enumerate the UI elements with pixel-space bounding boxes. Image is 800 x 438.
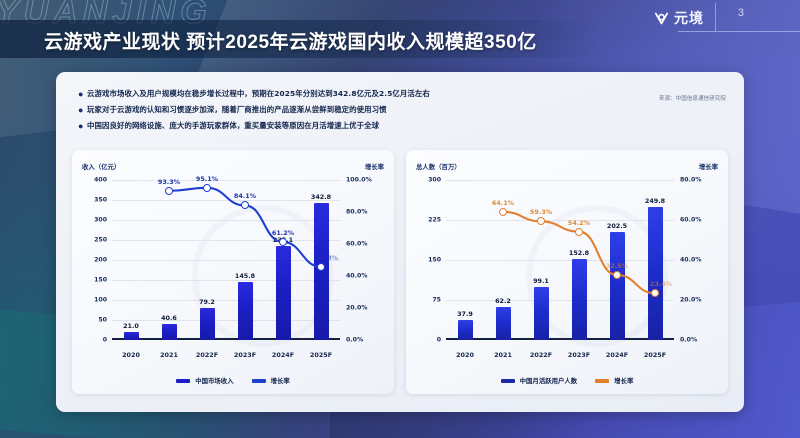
revenue-chart-panel: 收入（亿元） 增长率 0501001502002503003504000.0%2… [72,150,394,394]
y2-axis-tick: 60.0% [346,241,367,248]
chart-y-axis-label: 收入（亿元） [82,162,120,171]
y-axis-tick: 150 [94,277,107,284]
line-value-label: 64.1% [492,199,514,207]
y-axis-tick: 75 [432,297,441,304]
y-axis-tick: 0 [103,337,107,344]
line-marker [537,217,545,225]
y2-axis-tick: 20.0% [346,305,367,312]
y-axis-tick: 300 [428,177,441,184]
y2-axis-tick: 20.0% [680,297,701,304]
line-marker [575,228,583,236]
chart-y-axis-label: 总人数（百万） [416,162,461,171]
chart-y2-axis-label: 增长率 [365,162,384,171]
brand-logo: 元境 [653,8,704,28]
line-value-label: 23.4% [650,280,672,288]
y-axis-tick: 225 [428,217,441,224]
list-item: ● 中国因良好的网络设施、庞大的手游玩家群体，重买量安装等原因在月活增速上优于全… [78,120,598,133]
legend-item: 中国月活跃用户人数 [501,376,578,385]
x-axis-tick: 2024F [272,351,294,359]
x-axis-tick: 2022F [196,351,218,359]
legend-item: 中国市场收入 [176,376,233,385]
line-marker [279,238,287,246]
x-axis-tick: 2023F [234,351,256,359]
line-value-label: 93.3% [158,178,180,186]
bullet-text: 中国因良好的网络设施、庞大的手游玩家群体，重买量安装等原因在月活增速上优于全球 [87,120,379,132]
x-axis-tick: 2021 [160,351,178,359]
page-number: 3 [738,7,744,19]
legend-label: 中国月活跃用户人数 [520,376,578,385]
y-axis-tick: 0 [437,337,441,344]
bullet-dot-icon: ● [78,120,87,133]
line-marker [317,263,325,271]
y-axis-tick: 50 [98,317,107,324]
x-axis-tick: 2023F [568,351,590,359]
y2-axis-tick: 40.0% [346,273,367,280]
legend-swatch [252,379,266,383]
legend-item: 增长率 [595,376,633,385]
bullet-dot-icon: ● [78,104,87,117]
line-value-label: 45.8% [316,254,338,262]
line-value-label: 59.3% [530,208,552,216]
line-marker [165,187,173,195]
bullet-list: ● 云游戏市场收入及用户规模均在稳步增长过程中，预期在2025年分别达到342.… [78,88,598,136]
x-axis-tick: 2021 [494,351,512,359]
line-marker [651,289,659,297]
list-item: ● 云游戏市场收入及用户规模均在稳步增长过程中，预期在2025年分别达到342.… [78,88,598,101]
source-note: 来源：中国信息通信研究院 [659,94,726,102]
butterfly-logo-icon [653,10,670,27]
plot-area: 0501001502002503003504000.0%20.0%40.0%60… [112,180,340,340]
y2-axis-tick: 0.0% [680,337,697,344]
chart-legend: 中国月活跃用户人数增长率 [406,376,728,385]
y-axis-tick: 200 [94,257,107,264]
x-axis-tick: 2025F [644,351,666,359]
header-vertical-divider [715,3,716,31]
growth-rate-line [112,180,340,340]
line-value-label: 54.2% [568,219,590,227]
y2-axis-tick: 100.0% [346,177,372,184]
y-axis-tick: 250 [94,237,107,244]
brand-name: 元境 [674,8,704,28]
line-marker [203,184,211,192]
slide: YUANJING 元境 3 云游戏产业现状 预计2025年云游戏国内收入规模超3… [0,0,800,438]
legend-label: 增长率 [271,376,290,385]
bullet-dot-icon: ● [78,88,87,101]
line-marker [241,201,249,209]
y-axis-tick: 300 [94,217,107,224]
legend-label: 中国市场收入 [195,376,233,385]
y2-axis-tick: 80.0% [680,177,701,184]
legend-item: 增长率 [252,376,290,385]
chart-y2-axis-label: 增长率 [699,162,718,171]
y2-axis-tick: 0.0% [346,337,363,344]
plot-area: 0751502253000.0%20.0%40.0%60.0%80.0%37.9… [446,180,674,340]
users-chart-panel: 总人数（百万） 增长率 0751502253000.0%20.0%40.0%60… [406,150,728,394]
line-value-label: 32.5% [606,262,628,270]
x-axis-tick: 2020 [122,351,140,359]
legend-swatch [595,379,609,383]
line-marker [613,271,621,279]
x-axis-tick: 2025F [310,351,332,359]
y-axis-tick: 350 [94,197,107,204]
legend-swatch [176,379,190,383]
header-divider-line [678,31,800,32]
chart-legend: 中国市场收入增长率 [72,376,394,385]
legend-label: 增长率 [614,376,633,385]
y2-axis-tick: 40.0% [680,257,701,264]
list-item: ● 玩家对于云游戏的认知和习惯逐步加深，随着厂商推出的产品逐渐从尝鲜到稳定的使用… [78,104,598,117]
bullet-text: 玩家对于云游戏的认知和习惯逐步加深，随着厂商推出的产品逐渐从尝鲜到稳定的使用习惯 [87,104,387,116]
x-axis-tick: 2020 [456,351,474,359]
page-title: 云游戏产业现状 预计2025年云游戏国内收入规模超350亿 [44,27,537,54]
legend-swatch [501,379,515,383]
line-marker [499,208,507,216]
content-card: ● 云游戏市场收入及用户规模均在稳步增长过程中，预期在2025年分别达到342.… [56,72,744,412]
y2-axis-tick: 80.0% [346,209,367,216]
line-value-label: 95.1% [196,175,218,183]
x-axis-tick: 2022F [530,351,552,359]
bullet-text: 云游戏市场收入及用户规模均在稳步增长过程中，预期在2025年分别达到342.8亿… [87,88,430,100]
x-axis-tick: 2024F [606,351,628,359]
y-axis-tick: 150 [428,257,441,264]
y2-axis-tick: 60.0% [680,217,701,224]
growth-rate-line [446,180,674,340]
y-axis-tick: 400 [94,177,107,184]
y-axis-tick: 100 [94,297,107,304]
line-value-label: 84.1% [234,192,256,200]
line-value-label: 61.2% [272,229,294,237]
